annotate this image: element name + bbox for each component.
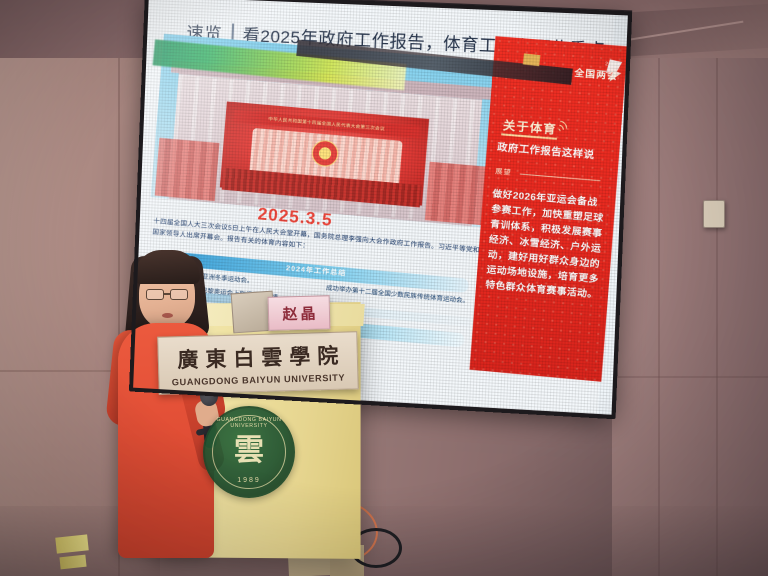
panel-body-text: 做好2026年亚运会备战参赛工作，加快重塑足球青训体系，积极发展赛事经济、冰雪经… (485, 187, 607, 303)
emblem-glyph: 雲 (234, 425, 264, 469)
emblem-year: 1989 (205, 477, 293, 484)
glasses-bridge-icon (164, 293, 170, 295)
university-emblem: GUANGDONG BAIYUN UNIVERSITY 雲 1989 (203, 406, 295, 498)
two-sessions-logo: 2025 全国两会 (574, 59, 619, 83)
glasses-lens-left-icon (146, 289, 164, 300)
glasses-lens-right-icon (170, 289, 188, 300)
wood-wall-right (612, 0, 768, 576)
podium-university-sign: 廣東白雲學院 GUANGDONG BAIYUN UNIVERSITY (157, 331, 359, 395)
gold-chip-decor (523, 53, 541, 66)
floor-light-strip (55, 534, 88, 553)
university-name-cn: 廣東白雲學院 (170, 339, 346, 374)
name-card-text: 赵晶 (279, 302, 319, 324)
signal-wave-icon (554, 118, 574, 136)
panel-section-label: 展望 (495, 166, 512, 177)
photo-scene: 速览 看2025年政府工作报告，体育工作有哪些重点 中华人民共和国第十四届全国人… (0, 0, 768, 576)
wall-outlet-plate[interactable] (703, 200, 725, 228)
speaker-name-card: 赵晶 (268, 295, 331, 331)
speaker-mouth (162, 313, 173, 318)
slide-right-red-panel: 2025 全国两会 关于体育 政府工作报告这样说 展望 做好2026年亚运会备战… (469, 36, 627, 382)
university-name-en: GUANGDONG BAIYUN UNIVERSITY (172, 372, 346, 387)
